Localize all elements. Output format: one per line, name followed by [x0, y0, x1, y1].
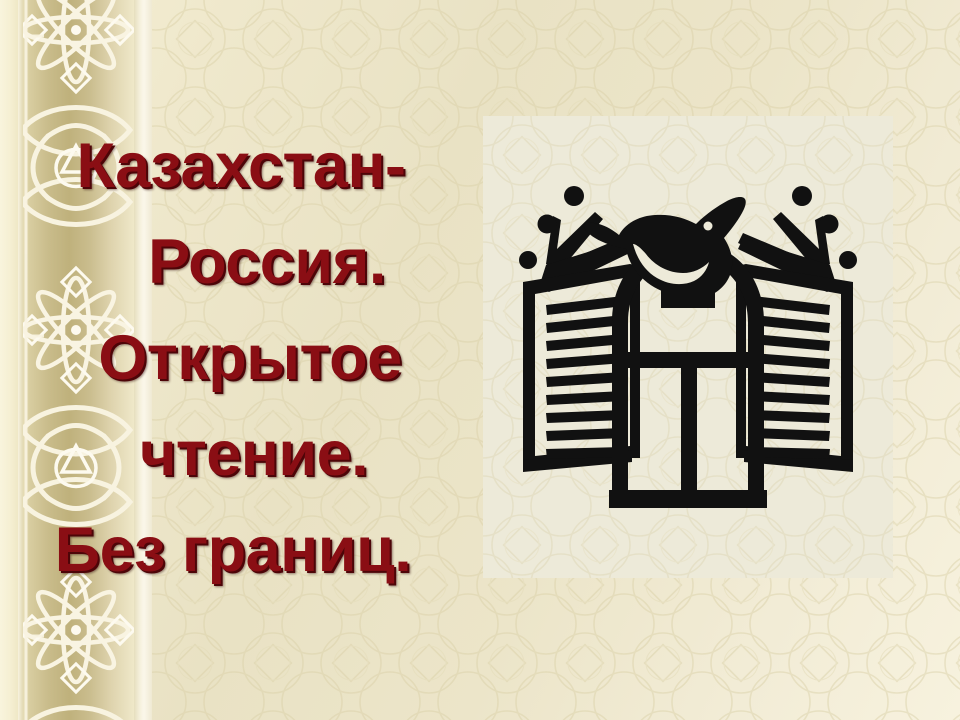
title-line-5: Без границ. [18, 502, 470, 598]
border-outer-strip [0, 0, 18, 720]
title-line-1: Казахстан- [18, 118, 470, 214]
slide-canvas: Казахстан- Россия. Открытое чтение. Без … [0, 0, 960, 720]
open-window-with-bird-and-books-icon [483, 116, 893, 578]
title-line-3: Открытое [18, 310, 470, 406]
title-line-4: чтение. [18, 406, 470, 502]
title-line-2: Россия. [18, 214, 470, 310]
illustration-panel [483, 116, 893, 578]
slide-title: Казахстан- Россия. Открытое чтение. Без … [18, 118, 470, 598]
